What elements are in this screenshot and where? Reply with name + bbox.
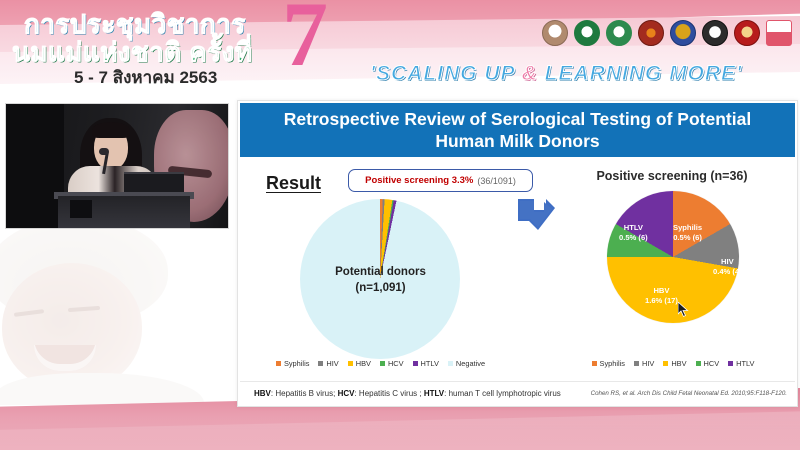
- screenshot-root: การประชุมวิชาการ นมแม่แห่งชาติ ครั้งที่ …: [0, 0, 800, 450]
- slice-label-hiv-value: 0.4% (4): [713, 267, 742, 277]
- slice-label-hiv: HIV 0.4% (4): [713, 257, 742, 277]
- legend-swatch-syphilis: [276, 361, 281, 366]
- speaker-hair-front: [92, 122, 130, 138]
- result-heading: Result: [266, 173, 321, 194]
- footnote-htlv-abbr: HTLV: [424, 389, 444, 398]
- footnote-hcv-text: : Hepatitis C virus ;: [354, 389, 423, 398]
- legend-item-hcv: HCV: [380, 359, 404, 368]
- footnote-htlv-text: : human T cell lymphotropic virus: [444, 389, 561, 398]
- slice-label-hiv-name: HIV: [713, 257, 742, 267]
- legend2-swatch-htlv: [728, 361, 733, 366]
- tagline-part-2: LEARNING MORE': [538, 62, 742, 85]
- slide-footer: HBV: Hepatitis B virus; HCV: Hepatitis C…: [240, 381, 795, 404]
- legend2-label-hcv: HCV: [704, 359, 720, 368]
- footnote-hbv-text: : Hepatitis B virus;: [271, 389, 338, 398]
- callout-text: Positive screening 3.3%: [365, 175, 473, 186]
- abbreviation-footnote: HBV: Hepatitis B virus; HCV: Hepatitis C…: [254, 389, 561, 398]
- legend-item-hiv: HIV: [318, 359, 338, 368]
- legend-swatch-htlv: [413, 361, 418, 366]
- sponsor-logo-row: [542, 20, 792, 46]
- legend2-swatch-hcv: [696, 361, 701, 366]
- slice-label-syphilis-name: Syphilis: [673, 223, 702, 233]
- legend-swatch-hcv: [380, 361, 385, 366]
- slice-label-hcv: HCV 0.3% (3): [575, 255, 604, 275]
- legend2-label-hbv: HBV: [671, 359, 686, 368]
- logo-buddha-emblem-icon: [542, 20, 568, 46]
- legend-swatch-hbv: [348, 361, 353, 366]
- legend2-item-htlv: HTLV: [728, 359, 754, 368]
- video-dark-panel: [6, 104, 64, 228]
- legend-label-hiv: HIV: [326, 359, 338, 368]
- logo-royal-garuda-icon: [670, 20, 696, 46]
- presentation-slide: Retrospective Review of Serological Test…: [237, 100, 798, 407]
- potential-donors-chart: Potential donors (n=1,091): [278, 199, 483, 367]
- slice-label-htlv: HTLV 0.5% (6): [619, 223, 648, 243]
- conference-date-thai: 5 - 7 สิงหาคม 2563: [74, 64, 217, 91]
- legend-item-syphilis: Syphilis: [276, 359, 309, 368]
- potential-donors-title: Potential donors: [278, 265, 483, 281]
- logo-red-emblem-icon: [734, 20, 760, 46]
- legend2-swatch-hiv: [634, 361, 639, 366]
- slice-label-hcv-value: 0.3% (3): [575, 265, 604, 275]
- legend-swatch-negative: [448, 361, 453, 366]
- slice-label-hbv-value: 1.6% (17): [645, 296, 678, 306]
- legend-item-negative: Negative: [448, 359, 485, 368]
- slice-label-hbv-name: HBV: [645, 286, 678, 296]
- potential-donors-center-label: Potential donors (n=1,091): [278, 265, 483, 296]
- legend-label-hbv: HBV: [356, 359, 371, 368]
- legend2-label-syphilis: Syphilis: [600, 359, 625, 368]
- conference-tagline: 'SCALING UP & LEARNING MORE': [370, 62, 742, 86]
- slice-label-syphilis-value: 0.5% (6): [673, 233, 702, 243]
- logo-sss-thaihealth-icon: [766, 20, 792, 46]
- legend2-item-hcv: HCV: [696, 359, 720, 368]
- podium-panel: [70, 200, 92, 218]
- legend-label-htlv: HTLV: [421, 359, 439, 368]
- legend2-item-hbv: HBV: [663, 359, 686, 368]
- photo-fade-overlay: [0, 215, 250, 405]
- legend-positive-screening: Syphilis HIV HBV HCV HTLV: [563, 359, 783, 368]
- slice-label-htlv-name: HTLV: [619, 223, 648, 233]
- legend-potential-donors: Syphilis HIV HBV HCV HTLV Negative: [278, 359, 483, 368]
- background-child-photo: [0, 215, 250, 405]
- legend-item-htlv: HTLV: [413, 359, 439, 368]
- logo-black-emblem-icon: [702, 20, 728, 46]
- footnote-hcv-abbr: HCV: [338, 389, 355, 398]
- legend-label-hcv: HCV: [388, 359, 404, 368]
- legend2-label-htlv: HTLV: [736, 359, 754, 368]
- legend2-item-hiv: HIV: [634, 359, 654, 368]
- slide-title: Retrospective Review of Serological Test…: [240, 103, 795, 157]
- legend2-swatch-syphilis: [592, 361, 597, 366]
- slice-label-htlv-value: 0.5% (6): [619, 233, 648, 243]
- microphone-head-icon: [99, 148, 109, 155]
- speaker-video-panel[interactable]: [5, 103, 229, 229]
- legend2-label-hiv: HIV: [642, 359, 654, 368]
- legend-swatch-hiv: [318, 361, 323, 366]
- legend-item-hbv: HBV: [348, 359, 371, 368]
- legend-label-negative: Negative: [456, 359, 485, 368]
- slice-label-hcv-name: HCV: [575, 255, 604, 265]
- legend-label-syphilis: Syphilis: [284, 359, 309, 368]
- slice-label-hbv: HBV 1.6% (17): [645, 286, 678, 306]
- citation-reference: Cohen RS, et al. Arch Dis Child Fetal Ne…: [591, 390, 787, 397]
- positive-screening-callout: Positive screening 3.3% (36/1091): [348, 169, 533, 192]
- slice-label-syphilis: Syphilis 0.5% (6): [673, 223, 702, 243]
- legend2-item-syphilis: Syphilis: [592, 359, 625, 368]
- logo-royal-red-emblem-icon: [638, 20, 664, 46]
- tagline-ampersand: &: [522, 62, 538, 85]
- blue-chevron-arrow-icon: [514, 193, 558, 237]
- conference-edition-number: 7: [282, 0, 328, 80]
- conference-header: การประชุมวิชาการ นมแม่แห่งชาติ ครั้งที่ …: [0, 0, 800, 96]
- potential-donors-subtitle: (n=1,091): [278, 281, 483, 297]
- callout-fraction: (36/1091): [477, 176, 516, 186]
- logo-green-health-1-icon: [574, 20, 600, 46]
- tagline-part-1: 'SCALING UP: [370, 62, 522, 85]
- footnote-hbv-abbr: HBV: [254, 389, 271, 398]
- positive-screening-chart: Positive screening (n=36) Syphilis 0.5% …: [553, 169, 791, 369]
- logo-green-health-2-icon: [606, 20, 632, 46]
- positive-screening-title: Positive screening (n=36): [553, 169, 791, 183]
- legend2-swatch-hbv: [663, 361, 668, 366]
